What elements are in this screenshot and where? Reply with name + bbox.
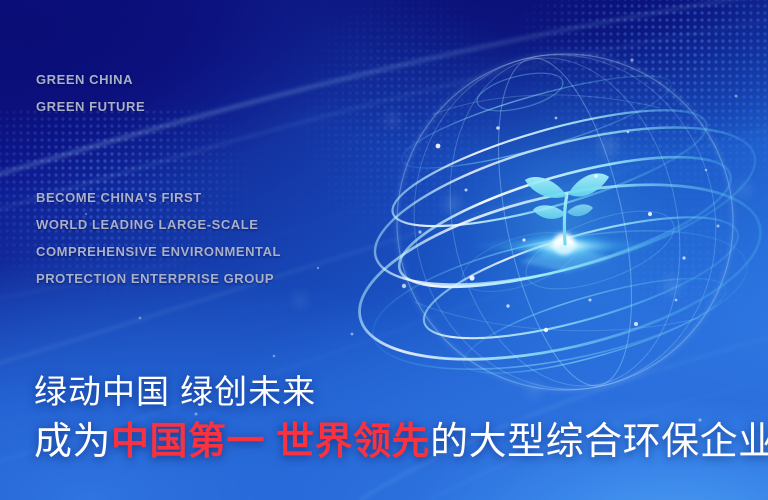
slogan-en-top: GREEN CHINA GREEN FUTURE bbox=[36, 66, 145, 120]
headline-line-2-suffix: 的大型综合环保企业集团 bbox=[430, 421, 768, 463]
hero-banner: GREEN CHINA GREEN FUTURE BECOME CHINA'S … bbox=[0, 0, 768, 500]
headline-line-2-prefix: 成为 bbox=[34, 421, 111, 463]
slogan-en-mid: BECOME CHINA'S FIRST WORLD LEADING LARGE… bbox=[36, 184, 281, 292]
text-layer: GREEN CHINA GREEN FUTURE BECOME CHINA'S … bbox=[0, 0, 768, 500]
headline-line-2-accent: 中国第一 世界领先 bbox=[111, 421, 430, 463]
headline-line-2: 成为中国第一 世界领先的大型综合环保企业集团 bbox=[34, 410, 768, 465]
slogan-en-mid-line-3: COMPREHENSIVE ENVIRONMENTAL bbox=[36, 238, 281, 265]
slogan-en-mid-line-2: WORLD LEADING LARGE-SCALE bbox=[36, 211, 281, 238]
slogan-en-mid-line-1: BECOME CHINA'S FIRST bbox=[36, 184, 281, 211]
slogan-en-top-line-2: GREEN FUTURE bbox=[36, 93, 145, 120]
headline-line-1: 绿动中国 绿创未来 bbox=[34, 365, 316, 413]
slogan-en-top-line-1: GREEN CHINA bbox=[36, 66, 145, 93]
slogan-en-mid-line-4: PROTECTION ENTERPRISE GROUP bbox=[36, 265, 281, 292]
